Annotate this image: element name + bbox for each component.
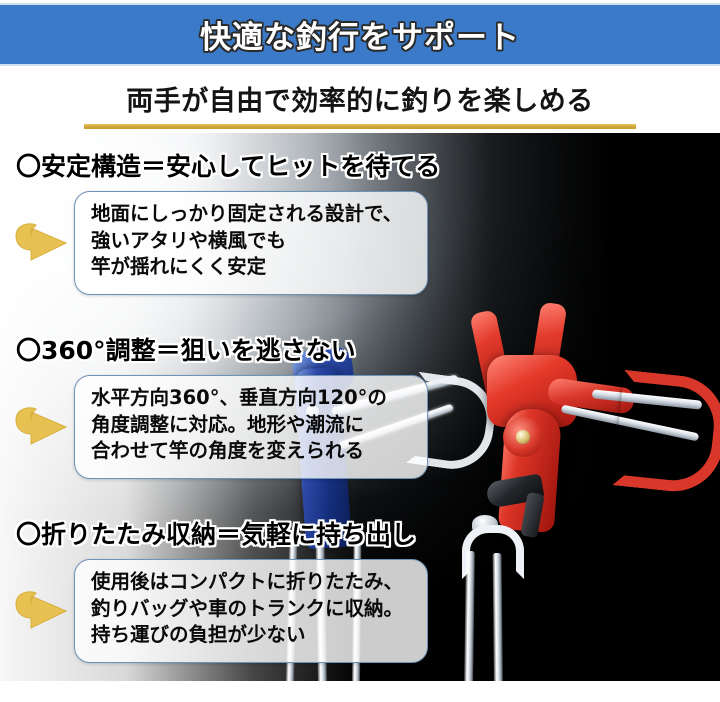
arrow-right-icon <box>12 216 70 270</box>
feature-callout-3: 使用後はコンパクトに折りたたみ、 釣りバッグや車のトランクに収納。 持ち運びの負… <box>74 559 428 663</box>
callout-line: 使用後はコンパクトに折りたたみ、 <box>91 569 413 596</box>
callout-line: 合わせて竿の角度を変えられる <box>91 438 413 465</box>
feature-section-2: 〇360°調整＝狙いを逃さない 水平方向360°、垂直方向120°の 角度調整に… <box>0 331 720 479</box>
arrow-right-icon <box>12 400 70 454</box>
feature-heading-3: 〇折りたたみ収納＝気軽に持ち出し <box>16 515 720 551</box>
feature-callout-1: 地面にしっかり固定される設計で、 強いアタリや横風でも 竿が揺れにくく安定 <box>74 191 428 295</box>
callout-line: 釣りバッグや車のトランクに収納。 <box>91 596 413 623</box>
feature-section-3: 〇折りたたみ収納＝気軽に持ち出し 使用後はコンパクトに折りたたみ、 釣りバッグや… <box>0 515 720 663</box>
feature-heading-1: 〇安定構造＝安心してヒットを待てる <box>16 147 720 183</box>
product-infographic: 快適な釣行をサポート 両手が自由で効率的に釣りを楽しめる <box>0 0 720 702</box>
callout-line: 竿が揺れにくく安定 <box>91 254 413 281</box>
feature-row-1: 地面にしっかり固定される設計で、 強いアタリや横風でも 竿が揺れにくく安定 <box>12 191 720 295</box>
callout-line: 持ち運びの負担が少ない <box>91 622 413 649</box>
feature-sections: 〇安定構造＝安心してヒットを待てる 地面にしっかり固定される設計で、 強いアタリ… <box>0 133 720 681</box>
banner-title: 快適な釣行をサポート <box>200 12 520 57</box>
subtitle-text: 両手が自由で効率的に釣りを楽しめる <box>126 79 594 118</box>
callout-line: 地面にしっかり固定される設計で、 <box>91 201 413 228</box>
callout-line: 角度調整に対応。地形や潮流に <box>91 412 413 439</box>
feature-section-1: 〇安定構造＝安心してヒットを待てる 地面にしっかり固定される設計で、 強いアタリ… <box>0 147 720 295</box>
callout-line: 強いアタリや横風でも <box>91 228 413 255</box>
callout-line: 水平方向360°、垂直方向120°の <box>91 385 413 412</box>
feature-row-3: 使用後はコンパクトに折りたたみ、 釣りバッグや車のトランクに収納。 持ち運びの負… <box>12 559 720 663</box>
feature-callout-2: 水平方向360°、垂直方向120°の 角度調整に対応。地形や潮流に 合わせて竿の… <box>74 375 428 479</box>
gold-divider <box>84 124 636 129</box>
arrow-right-icon <box>12 584 70 638</box>
feature-row-2: 水平方向360°、垂直方向120°の 角度調整に対応。地形や潮流に 合わせて竿の… <box>12 375 720 479</box>
subtitle-zone: 両手が自由で効率的に釣りを楽しめる <box>0 66 720 130</box>
header-banner: 快適な釣行をサポート <box>0 3 720 66</box>
feature-heading-2: 〇360°調整＝狙いを逃さない <box>16 331 720 367</box>
